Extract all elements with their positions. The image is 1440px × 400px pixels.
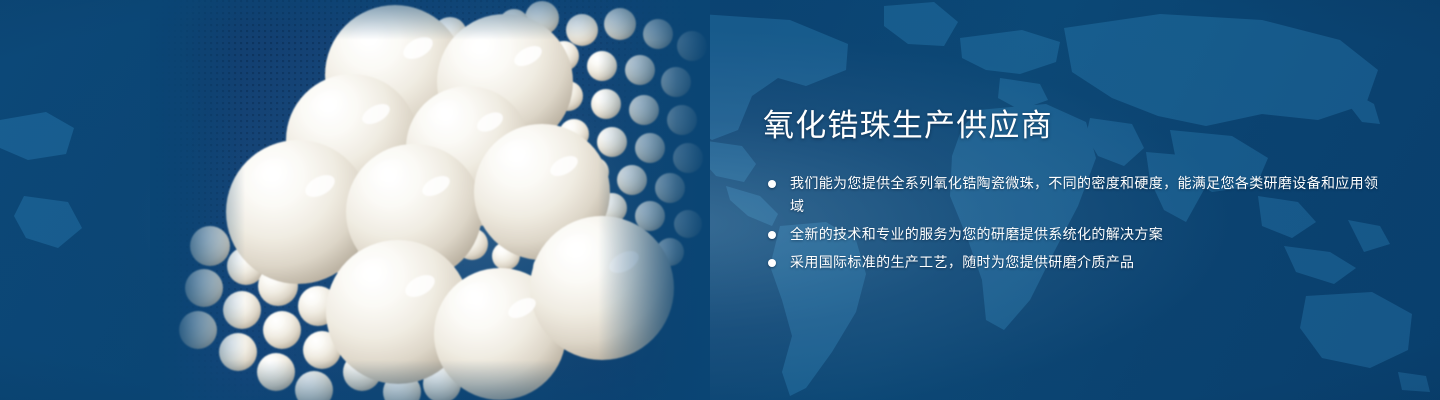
bullet-dot-icon (768, 259, 776, 267)
hero-banner: 氧化锆珠生产供应商 我们能为您提供全系列氧化锆陶瓷微珠，不同的密度和硬度，能满足… (0, 0, 1440, 400)
bullet-text: 全新的技术和专业的服务为您的研磨提供系统化的解决方案 (790, 226, 1163, 242)
bullet-dot-icon (768, 180, 776, 188)
bullet-item: 采用国际标准的生产工艺，随时为您提供研磨介质产品 (763, 251, 1383, 274)
bead-cluster (150, 0, 710, 400)
bullet-dot-icon (768, 231, 776, 239)
banner-headline: 氧化锆珠生产供应商 (763, 106, 1383, 146)
zirconia-beads-photo (150, 0, 710, 400)
bullet-text: 采用国际标准的生产工艺，随时为您提供研磨介质产品 (790, 254, 1134, 270)
banner-bullet-list: 我们能为您提供全系列氧化锆陶瓷微珠，不同的密度和硬度，能满足您各类研磨设备和应用… (763, 172, 1383, 274)
banner-copy: 氧化锆珠生产供应商 我们能为您提供全系列氧化锆陶瓷微珠，不同的密度和硬度，能满足… (763, 106, 1383, 274)
bullet-item: 全新的技术和专业的服务为您的研磨提供系统化的解决方案 (763, 223, 1383, 246)
bullet-item: 我们能为您提供全系列氧化锆陶瓷微珠，不同的密度和硬度，能满足您各类研磨设备和应用… (763, 172, 1383, 218)
bullet-text: 我们能为您提供全系列氧化锆陶瓷微珠，不同的密度和硬度，能满足您各类研磨设备和应用… (790, 175, 1378, 214)
